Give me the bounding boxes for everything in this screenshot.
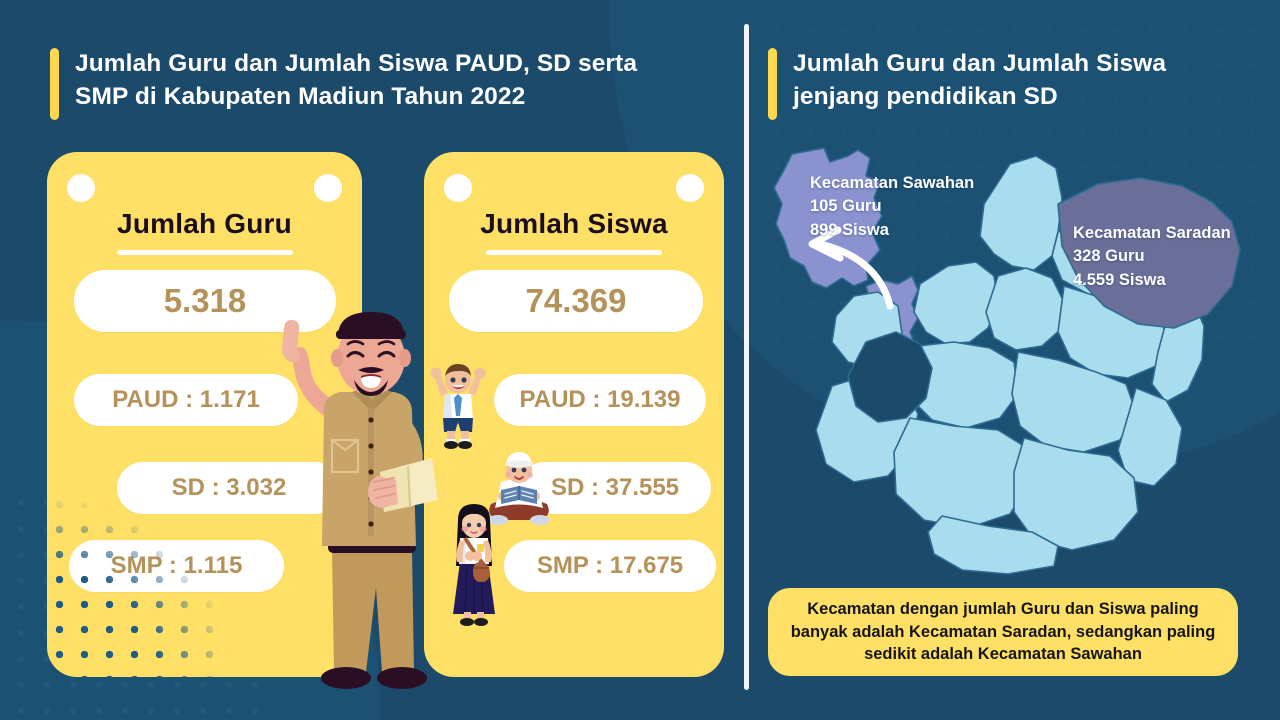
punch-hole-icon bbox=[444, 174, 472, 202]
right-heading-text: Jumlah Guru dan Jumlah Siswa jenjang pen… bbox=[793, 48, 1166, 113]
map-region-west-upper bbox=[914, 262, 998, 344]
title-underline bbox=[117, 250, 293, 255]
map-region-north bbox=[980, 156, 1062, 270]
card-guru-total-value: 5.318 bbox=[74, 270, 336, 332]
card-siswa-paud-value: PAUD : 19.139 bbox=[494, 374, 706, 426]
right-panel-heading: Jumlah Guru dan Jumlah Siswa jenjang pen… bbox=[768, 48, 1238, 120]
card-siswa-sd-value: SD : 37.555 bbox=[519, 462, 711, 514]
card-guru-title: Jumlah Guru bbox=[47, 208, 362, 240]
infographic-canvas: Jumlah Guru dan Jumlah Siswa PAUD, SD se… bbox=[0, 0, 1280, 720]
accent-bar-icon bbox=[768, 48, 777, 120]
card-guru-sd-value: SD : 3.032 bbox=[117, 462, 341, 514]
map-label-sawahan: Kecamatan Sawahan 105 Guru 899 Siswa bbox=[810, 172, 974, 242]
card-guru-smp-value: SMP : 1.115 bbox=[69, 540, 284, 592]
card-siswa-title: Jumlah Siswa bbox=[424, 208, 724, 240]
left-panel-heading: Jumlah Guru dan Jumlah Siswa PAUD, SD se… bbox=[50, 48, 730, 120]
title-underline bbox=[486, 250, 662, 255]
card-siswa-total-value: 74.369 bbox=[449, 270, 703, 332]
map-label-saradan: Kecamatan Saradan 328 Guru 4.559 Siswa bbox=[1073, 222, 1231, 292]
punch-hole-icon bbox=[314, 174, 342, 202]
card-jumlah-guru: Jumlah Guru 5.318 PAUD : 1.171 SD : 3.03… bbox=[47, 152, 362, 677]
card-guru-paud-value: PAUD : 1.171 bbox=[74, 374, 298, 426]
map-caption-box: Kecamatan dengan jumlah Guru dan Siswa p… bbox=[768, 588, 1238, 676]
map-region-south-central bbox=[894, 418, 1030, 528]
left-heading-text: Jumlah Guru dan Jumlah Siswa PAUD, SD se… bbox=[75, 48, 637, 113]
card-jumlah-siswa: Jumlah Siswa 74.369 PAUD : 19.139 SD : 3… bbox=[424, 152, 724, 677]
vertical-divider bbox=[744, 24, 749, 690]
map-region-central-upper bbox=[986, 268, 1064, 350]
accent-bar-icon bbox=[50, 48, 59, 120]
punch-hole-icon bbox=[67, 174, 95, 202]
punch-hole-icon bbox=[676, 174, 704, 202]
card-siswa-smp-value: SMP : 17.675 bbox=[504, 540, 716, 592]
